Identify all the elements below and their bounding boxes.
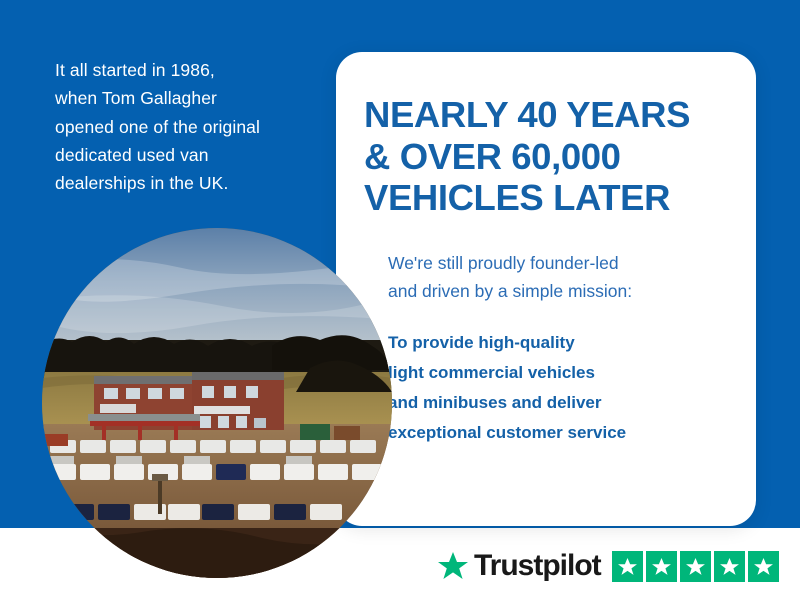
trustpilot-rating[interactable]: Trustpilot: [437, 550, 779, 582]
headline: NEARLY 40 YEARS & OVER 60,000 VEHICLES L…: [364, 94, 726, 219]
highlight-card-content: NEARLY 40 YEARS & OVER 60,000 VEHICLES L…: [336, 52, 756, 449]
mission-statement: To provide high-quality light commercial…: [388, 328, 726, 449]
rating-star-4: [714, 551, 745, 582]
star-icon: [753, 556, 774, 577]
trustpilot-wordmark: Trustpilot: [474, 551, 601, 581]
star-icon: [651, 556, 672, 577]
subcopy: We're still proudly founder-led and driv…: [388, 249, 726, 306]
rating-star-3: [680, 551, 711, 582]
trustpilot-star-icon: [437, 550, 469, 582]
dealership-photo-image: [42, 228, 392, 578]
star-icon: [685, 556, 706, 577]
dealership-photo: [42, 228, 392, 578]
intro-copy: It all started in 1986, when Tom Gallagh…: [55, 56, 325, 198]
trustpilot-stars: [612, 551, 779, 582]
trustpilot-brand[interactable]: Trustpilot: [437, 550, 601, 582]
star-icon: [617, 556, 638, 577]
highlight-card: NEARLY 40 YEARS & OVER 60,000 VEHICLES L…: [336, 52, 756, 526]
promo-banner: It all started in 1986, when Tom Gallagh…: [0, 0, 800, 600]
rating-star-2: [646, 551, 677, 582]
rating-star-5: [748, 551, 779, 582]
rating-star-1: [612, 551, 643, 582]
star-icon: [719, 556, 740, 577]
